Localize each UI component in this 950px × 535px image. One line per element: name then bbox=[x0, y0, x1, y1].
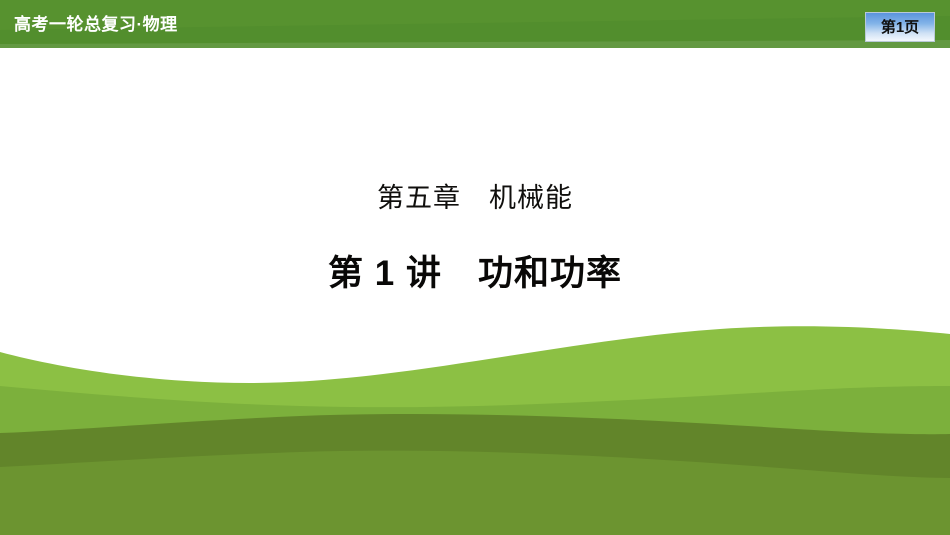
page-number-badge[interactable]: 第1页 bbox=[865, 12, 935, 42]
page-number-label: 第1页 bbox=[881, 20, 919, 35]
header-title: 高考一轮总复习·物理 bbox=[14, 10, 178, 35]
wave-layer-mid bbox=[0, 386, 950, 535]
wave-layer-bottom bbox=[0, 451, 950, 535]
chapter-title: 第五章 机械能 bbox=[0, 176, 950, 215]
header-bar: 高考一轮总复习·物理 bbox=[0, 0, 950, 48]
lecture-title: 第 1 讲 功和功率 bbox=[0, 245, 950, 296]
wave-layer-dark bbox=[0, 414, 950, 535]
wave-layer-light bbox=[0, 326, 950, 535]
slide-root: 高考一轮总复习·物理 第1页 第五章 机械能 第 1 讲 功和功率 bbox=[0, 0, 950, 535]
